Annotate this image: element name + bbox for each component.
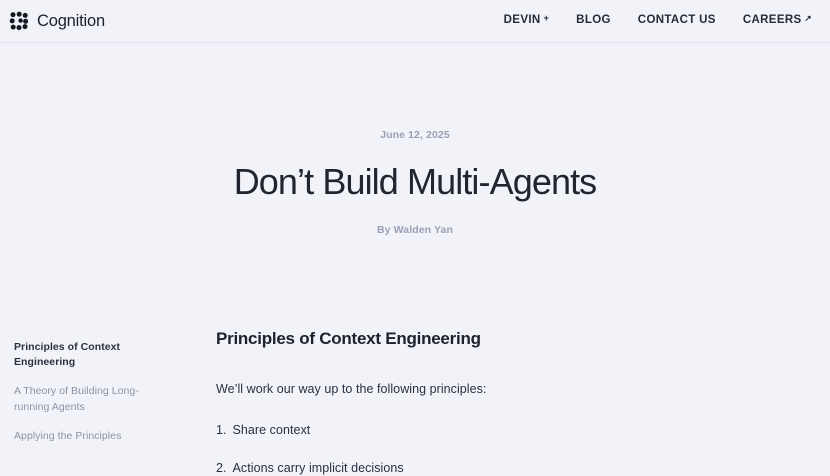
- external-link-arrow-icon: ↗: [805, 14, 812, 23]
- nav-item-devin-label: DEVIN: [504, 15, 541, 27]
- cognition-dots-logo-icon: [9, 11, 29, 31]
- toc-item-applying-the-principles[interactable]: Applying the Principles: [14, 429, 146, 444]
- nav-item-devin[interactable]: DEVIN +: [504, 15, 550, 27]
- nav-item-contact-us[interactable]: CONTACT US: [638, 15, 716, 27]
- list-item: 2. Actions carry implicit decisions: [216, 459, 686, 476]
- nav-item-blog[interactable]: BLOG: [576, 15, 611, 27]
- article-byline: By Walden Yan: [0, 224, 830, 236]
- nav-item-blog-label: BLOG: [576, 15, 611, 27]
- table-of-contents: Principles of Context Engineering A Theo…: [14, 340, 146, 458]
- nav-item-careers[interactable]: CAREERS ↗: [743, 15, 812, 27]
- brand-logo-link[interactable]: Cognition: [9, 11, 105, 31]
- article-page: June 12, 2025 Don’t Build Multi-Agents B…: [0, 43, 830, 476]
- plus-icon: +: [544, 14, 550, 23]
- intro-paragraph: We’ll work our way up to the following p…: [216, 380, 686, 399]
- toc-item-theory-of-building-long-running-agents[interactable]: A Theory of Building Long-running Agents: [14, 384, 146, 414]
- list-item-label: Actions carry implicit decisions: [233, 459, 404, 476]
- section-heading-principles: Principles of Context Engineering: [216, 328, 686, 350]
- toc-item-principles-of-context-engineering[interactable]: Principles of Context Engineering: [14, 340, 146, 370]
- article-header: June 12, 2025 Don’t Build Multi-Agents B…: [0, 43, 830, 236]
- article-body: Principles of Context Engineering We’ll …: [216, 328, 686, 476]
- page-title: Don’t Build Multi-Agents: [0, 162, 830, 202]
- list-item: 1. Share context: [216, 421, 686, 440]
- site-header: Cognition DEVIN + BLOG CONTACT US CAREER…: [0, 0, 830, 43]
- nav-item-careers-label: CAREERS: [743, 15, 802, 27]
- primary-navigation: DEVIN + BLOG CONTACT US CAREERS ↗: [504, 15, 816, 27]
- nav-item-contact-us-label: CONTACT US: [638, 15, 716, 27]
- list-item-number: 1.: [216, 421, 227, 440]
- brand-name: Cognition: [37, 13, 105, 30]
- principles-list: 1. Share context 2. Actions carry implic…: [216, 421, 686, 476]
- article-publish-date: June 12, 2025: [0, 129, 830, 141]
- list-item-label: Share context: [233, 421, 311, 440]
- list-item-number: 2.: [216, 459, 227, 476]
